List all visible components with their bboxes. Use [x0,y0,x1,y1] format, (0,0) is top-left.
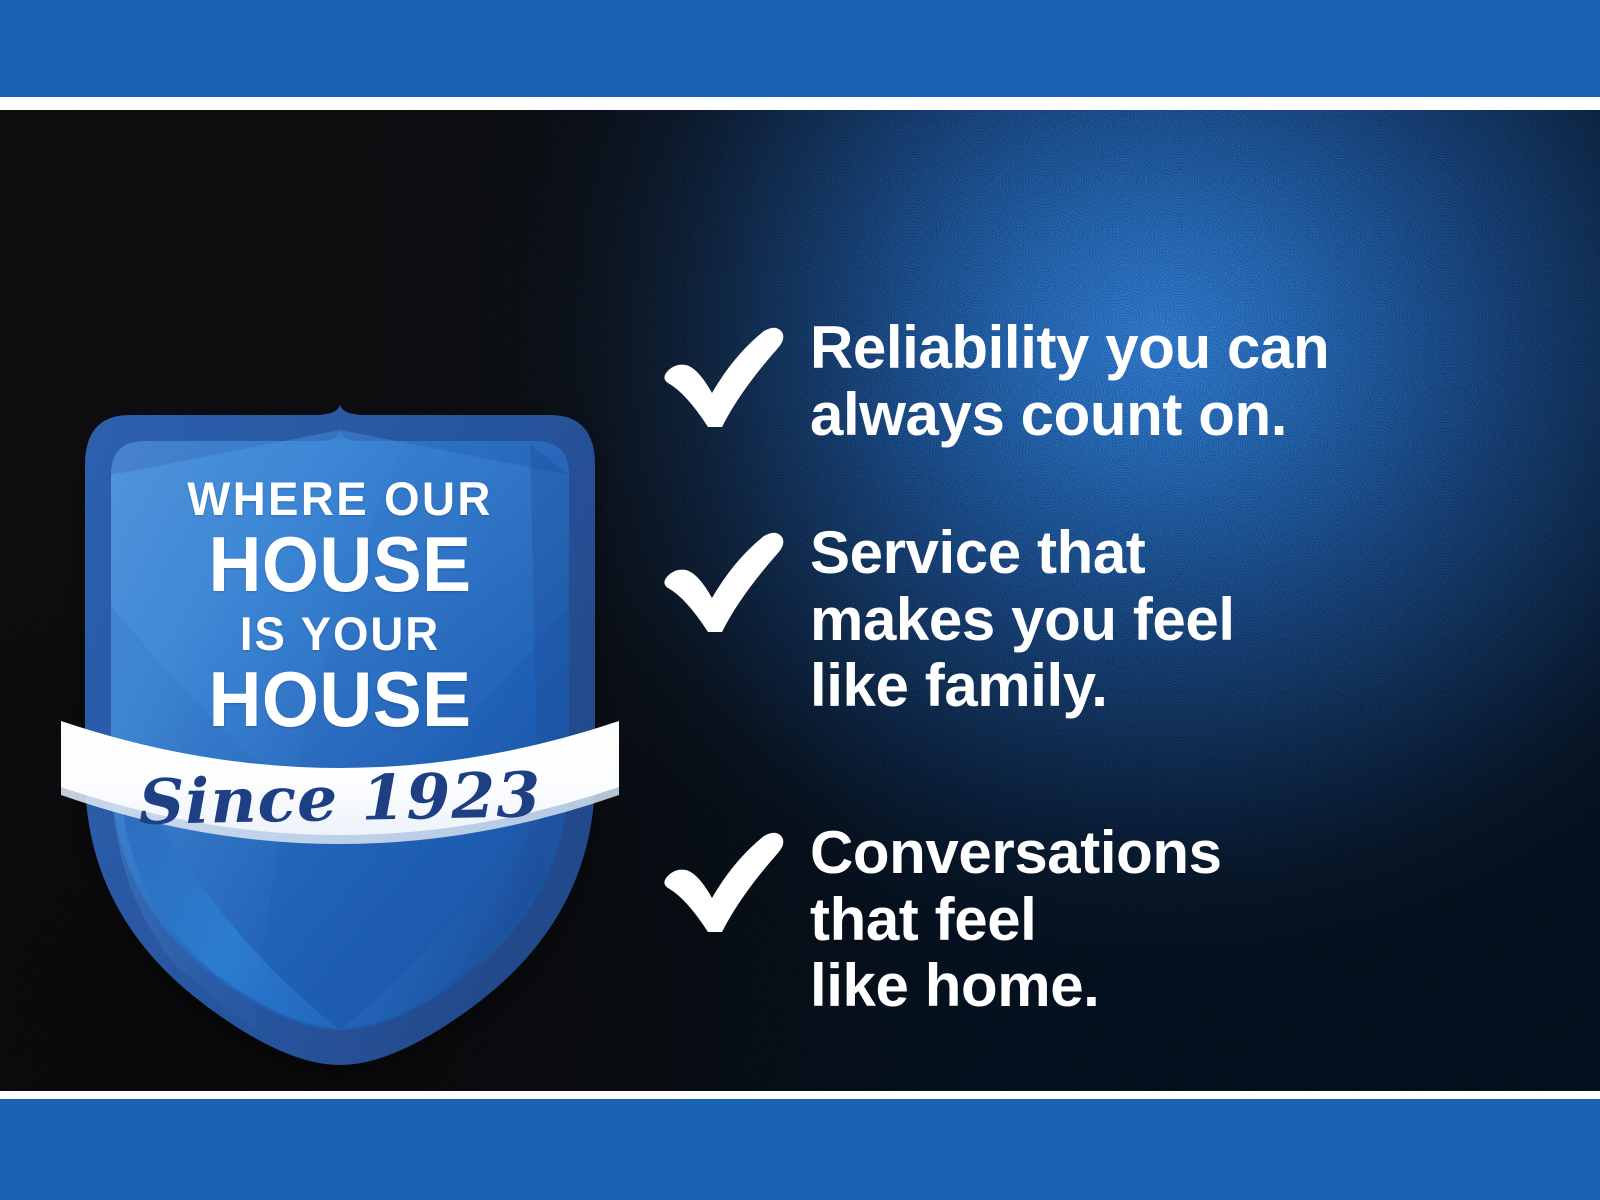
bottom-brand-bar [0,1099,1600,1200]
badge-line-house-bottom: HOUSE [91,660,589,738]
main-stage: WHERE OUR HOUSE IS YOUR HOUSE Since 1923… [0,110,1600,1091]
list-item-label: Service that makes you feel like family. [810,520,1235,720]
list-item-label: Reliability you can always count on. [810,315,1329,448]
list-item: Service that makes you feel like family. [660,520,1235,720]
checkmark-icon [660,820,810,938]
badge-line-house-top: HOUSE [91,525,589,603]
checkmark-icon [660,520,810,638]
brand-badge: WHERE OUR HOUSE IS YOUR HOUSE Since 1923 [75,275,605,1065]
promo-graphic: WHERE OUR HOUSE IS YOUR HOUSE Since 1923… [0,0,1600,1200]
badge-line-is-your: IS YOUR [83,610,597,657]
checkmark-icon [660,315,810,433]
benefits-list: Reliability you can always count on. Ser… [660,220,1540,1091]
list-item: Reliability you can always count on. [660,315,1329,448]
badge-ribbon-since-text: Since 1923 [69,763,611,835]
top-brand-bar [0,0,1600,97]
badge-line-where-our: WHERE OUR [83,475,597,522]
list-item: Conversations that feel like home. [660,820,1222,1020]
list-item-label: Conversations that feel like home. [810,820,1222,1020]
